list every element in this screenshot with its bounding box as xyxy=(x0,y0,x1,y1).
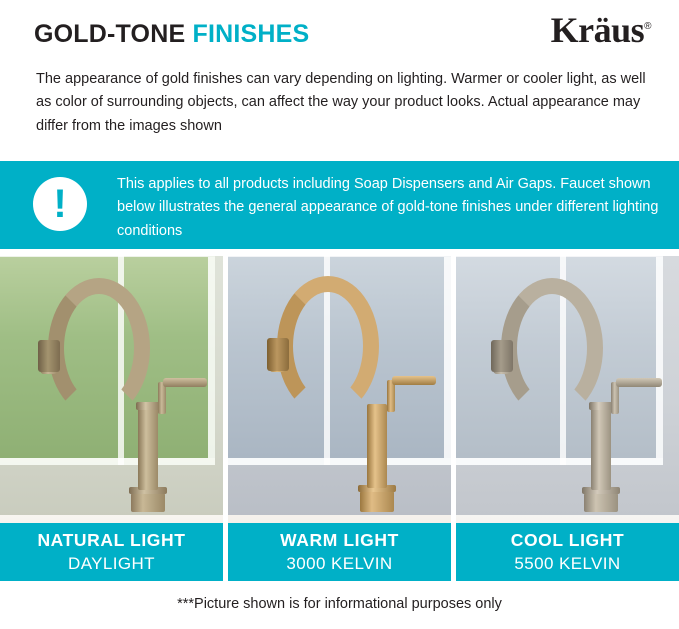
gold-tone-finishes-infographic: GOLD-TONE FINISHES Kräus® The appearance… xyxy=(0,0,679,629)
page-title-part-b: FINISHES xyxy=(192,20,309,48)
page-title: GOLD-TONE FINISHES xyxy=(34,20,309,49)
notice-text: This applies to all products including S… xyxy=(117,173,662,243)
page-title-part-a: GOLD-TONE xyxy=(34,20,192,48)
brand-logo-text: Kräus xyxy=(551,10,645,50)
caption-cool-light: COOL LIGHT 5500 KELVIN xyxy=(456,523,679,581)
panel-warm-light: WARM LIGHT 3000 KELVIN xyxy=(228,256,451,581)
faucet-collar-natural xyxy=(136,402,160,410)
faucet-collar-warm xyxy=(365,400,389,408)
caption-natural-light-line1: NATURAL LIGHT xyxy=(0,529,223,553)
caption-cool-light-line2: 5500 KELVIN xyxy=(456,553,679,576)
panel-cool-light: COOL LIGHT 5500 KELVIN xyxy=(456,256,679,581)
intro-paragraph: The appearance of gold finishes can vary… xyxy=(36,68,648,138)
faucet-arc-warm xyxy=(277,276,379,416)
caption-natural-light-line2: DAYLIGHT xyxy=(0,553,223,576)
faucet-handle-cool xyxy=(616,378,662,387)
faucet-column-warm xyxy=(367,404,387,488)
notice-banner: ! This applies to all products including… xyxy=(0,161,679,249)
caption-warm-light-line1: WARM LIGHT xyxy=(228,529,451,553)
faucet-column-natural xyxy=(138,406,158,490)
header: GOLD-TONE FINISHES Kräus® xyxy=(0,0,679,62)
faucet-base-cool xyxy=(584,492,618,512)
caption-natural-light: NATURAL LIGHT DAYLIGHT xyxy=(0,523,223,581)
registered-trademark-icon: ® xyxy=(644,21,651,32)
brand-logo: Kräus® xyxy=(551,12,651,48)
faucet-handle-warm xyxy=(392,376,436,385)
faucet-pulldown-head-cool xyxy=(491,340,513,372)
exclamation-icon: ! xyxy=(33,177,87,231)
panel-natural-light: NATURAL LIGHT DAYLIGHT xyxy=(0,256,223,581)
caption-warm-light-line2: 3000 KELVIN xyxy=(228,553,451,576)
caption-cool-light-line1: COOL LIGHT xyxy=(456,529,679,553)
footer-disclaimer: ***Picture shown is for informational pu… xyxy=(0,596,679,612)
faucet-comparison-strip: NATURAL LIGHT DAYLIGHT xyxy=(0,256,679,581)
faucet-handle-natural xyxy=(163,378,207,387)
faucet-arc-cool xyxy=(501,278,603,418)
faucet-arc-natural xyxy=(48,278,150,418)
faucet-collar-cool xyxy=(589,402,613,410)
faucet-base-natural xyxy=(131,492,165,512)
faucet-column-cool xyxy=(591,406,611,490)
caption-warm-light: WARM LIGHT 3000 KELVIN xyxy=(228,523,451,581)
faucet-pulldown-head-natural xyxy=(38,340,60,372)
faucet-pulldown-head-warm xyxy=(267,338,289,371)
faucet-base-warm xyxy=(360,490,394,512)
